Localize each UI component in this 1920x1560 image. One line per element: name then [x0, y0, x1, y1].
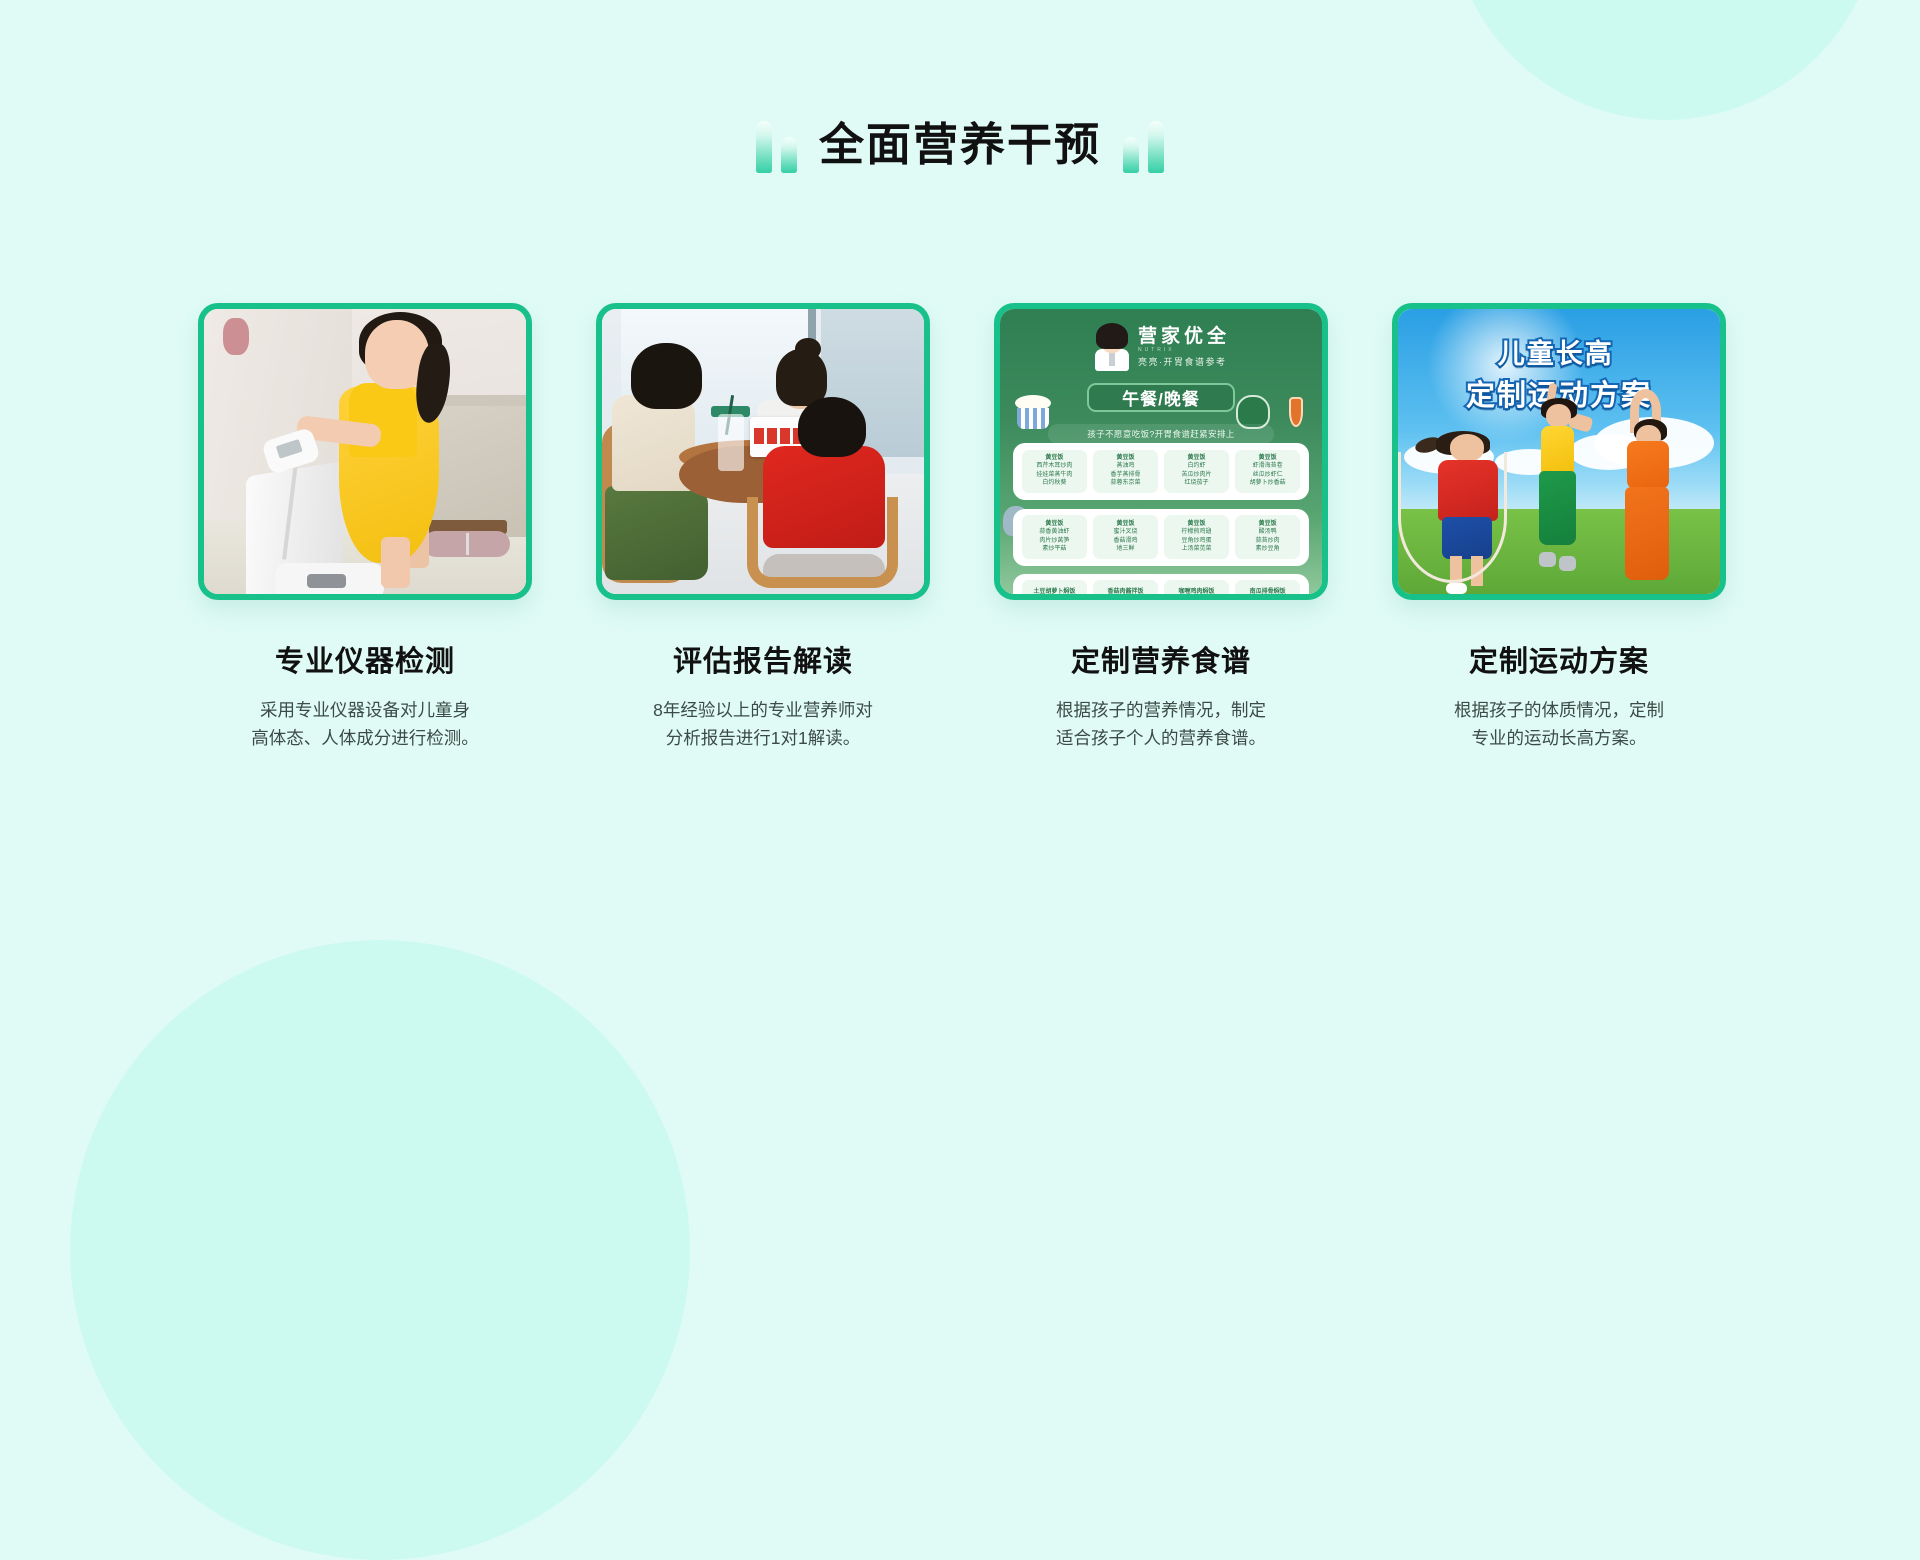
page-title: 全面营养干预 [819, 122, 1101, 167]
card-image-frame[interactable]: 营家优全 NUTRIX 亮亮·开胃食谱参考 午餐/晚餐 孩子不愿意吃饭?开胃食谱… [994, 303, 1328, 600]
menu-cell-staple: 土豆胡萝卜焖饭 [1033, 589, 1075, 597]
recipe-brand-name: 营家优全 [1138, 327, 1230, 347]
menu-cell-dish: 酸汤鸭 [1259, 529, 1277, 537]
menu-cell-staple: 黄豆饭 [1116, 455, 1134, 463]
menu-cell: 黄豆饭柠檬煎鸡翅豆角炒鸡蛋上汤菜苋菜 [1164, 515, 1229, 558]
menu-cell-dish: 白灼虾 [1188, 463, 1206, 471]
menu-cell-staple: 黄豆饭 [1045, 455, 1063, 463]
broccoli-icon [1236, 395, 1270, 429]
menu-cell-dish: 胡萝卜炒香菇 [1250, 480, 1286, 488]
decor-bar-tall-icon [1148, 121, 1164, 173]
title-decoration-left [756, 115, 797, 173]
recipe-brand-row: 营家优全 NUTRIX 亮亮·开胃食谱参考 [1000, 323, 1322, 371]
decor-bar-short-icon [781, 137, 797, 173]
menu-cell-dish: 红烧鱼块 [1042, 597, 1066, 600]
decor-bar-tall-icon [756, 121, 772, 173]
menu-cell-staple: 黄豆饭 [1116, 521, 1134, 529]
popcorn-icon [1013, 395, 1053, 429]
card-title: 定制运动方案 [1392, 638, 1726, 680]
menu-cell-dish: 上汤菜苋菜 [1182, 546, 1212, 554]
card-description: 根据孩子的体质情况，定制 专业的运动长高方案。 [1392, 696, 1726, 753]
menu-cell-staple: 咖喱鸡肉焖饭 [1179, 589, 1215, 597]
menu-cell-dish: 香菇滑鸡 [1113, 538, 1137, 546]
child-jumping [1517, 383, 1601, 571]
photo-children-exercising: 儿童长高 定制运动方案 [1398, 309, 1720, 594]
jump-rope-icon [1398, 452, 1507, 583]
feature-card-report-interpretation[interactable]: 评估报告解读 8年经验以上的专业营养师对 分析报告进行1对1解读。 [596, 303, 930, 753]
menu-row: 黄豆饭西芹木耳炒肉娃娃菜蒸牛肉白灼秋葵黄豆饭蒸油鸡香芋蒸排骨蒜蓉东京菜黄豆饭白灼… [1013, 443, 1309, 500]
section-header: 全面营养干预 [0, 115, 1920, 173]
background-circle-top-right [1450, 0, 1880, 120]
recipe-tagline: 孩子不愿意吃饭?开胃食谱赶紧安排上 [1048, 424, 1273, 444]
menu-cell: 黄豆饭蒸油鸡香芋蒸排骨蒜蓉东京菜 [1093, 450, 1158, 493]
menu-cell-dish: 素炒平菇 [1042, 546, 1066, 554]
menu-cell-dish: 香芋蒸排骨 [1110, 472, 1140, 480]
menu-cell-dish: 丝瓜炒虾仁 [1253, 472, 1283, 480]
menu-cell-dish: 肉片炒莴笋 [1039, 538, 1069, 546]
card-description: 根据孩子的营养情况，制定 适合孩子个人的营养食谱。 [994, 696, 1328, 753]
menu-cell-dish: 虾滑海苔卷 [1253, 463, 1283, 471]
carrot-icon [1289, 397, 1303, 427]
nutritionist-avatar-icon [1092, 323, 1132, 371]
menu-cell: 黄豆饭西芹木耳炒肉娃娃菜蒸牛肉白灼秋葵 [1022, 450, 1087, 493]
menu-cell-staple: 南瓜排骨焖饭 [1250, 589, 1286, 597]
menu-cell-staple: 黄豆饭 [1188, 521, 1206, 529]
menu-row: 土豆胡萝卜焖饭红烧鱼块香菇肉酱拌饭蒜蓉虾仁咖喱鸡肉焖饭蒸油鸡南瓜排骨焖饭金汤柠檬… [1013, 574, 1309, 600]
card-description: 采用专业仪器设备对儿童身 高体态、人体成分进行检测。 [198, 696, 532, 753]
menu-cell-staple: 黄豆饭 [1045, 521, 1063, 529]
card-image-frame[interactable]: 儿童长高 定制运动方案 [1392, 303, 1726, 600]
menu-cell-dish: 苦瓜炒肉片 [1182, 472, 1212, 480]
card-image-frame[interactable] [198, 303, 532, 600]
title-decoration-right [1123, 115, 1164, 173]
background-circle-bottom-left [70, 940, 690, 1560]
menu-cell-dish: 蜜汁叉烧 [1113, 529, 1137, 537]
menu-cell: 黄豆饭酸汤鸭蒜苔炒肉素炒豆角 [1235, 515, 1300, 558]
card-title: 定制营养食谱 [994, 638, 1328, 680]
menu-cell-dish: 地三鲜 [1116, 546, 1134, 554]
meal-type-button[interactable]: 午餐/晚餐 [1087, 383, 1235, 412]
exercise-headline-line1: 儿童长高 [1427, 332, 1685, 371]
menu-cell: 香菇肉酱拌饭蒜蓉虾仁 [1093, 580, 1158, 600]
photo-nutritionist-consultation [602, 309, 924, 594]
menu-cell-dish: 蒜香黄油虾 [1039, 529, 1069, 537]
menu-cell-dish: 西芹木耳炒肉 [1036, 463, 1072, 471]
menu-cell-dish: 蒸油鸡 [1116, 463, 1134, 471]
feature-card-custom-exercise[interactable]: 儿童长高 定制运动方案 [1392, 303, 1726, 753]
recipe-brand-subtitle: 亮亮·开胃食谱参考 [1138, 355, 1230, 368]
photo-recipe-poster: 营家优全 NUTRIX 亮亮·开胃食谱参考 午餐/晚餐 孩子不愿意吃饭?开胃食谱… [1000, 309, 1322, 594]
menu-cell: 土豆胡萝卜焖饭红烧鱼块 [1022, 580, 1087, 600]
recipe-brand-en: NUTRIX [1138, 347, 1230, 353]
menu-cell-dish: 娃娃菜蒸牛肉 [1036, 472, 1072, 480]
decor-bar-short-icon [1123, 137, 1139, 173]
menu-cell-dish: 素炒豆角 [1256, 546, 1280, 554]
menu-cell: 黄豆饭蜜汁叉烧香菇滑鸡地三鲜 [1093, 515, 1158, 558]
menu-cell-dish: 白灼秋葵 [1042, 480, 1066, 488]
menu-cell-dish: 豆角炒鸡蛋 [1182, 538, 1212, 546]
menu-cell-staple: 香菇肉酱拌饭 [1107, 589, 1143, 597]
menu-cell-dish: 蒜蓉东京菜 [1110, 480, 1140, 488]
feature-card-instrument-test[interactable]: 专业仪器检测 采用专业仪器设备对儿童身 高体态、人体成分进行检测。 [198, 303, 532, 753]
menu-cell-staple: 黄豆饭 [1259, 455, 1277, 463]
photo-body-composition-test [204, 309, 526, 594]
menu-cell: 南瓜排骨焖饭金汤柠檬鱼 [1235, 580, 1300, 600]
menu-cell: 黄豆饭虾滑海苔卷丝瓜炒虾仁胡萝卜炒香菇 [1235, 450, 1300, 493]
card-description: 8年经验以上的专业营养师对 分析报告进行1对1解读。 [596, 696, 930, 753]
feature-card-list: 专业仪器检测 采用专业仪器设备对儿童身 高体态、人体成分进行检测。 评估报告解读 [198, 303, 1728, 753]
menu-cell-staple: 黄豆饭 [1259, 521, 1277, 529]
menu-cell-staple: 黄豆饭 [1188, 455, 1206, 463]
menu-cell: 咖喱鸡肉焖饭蒸油鸡 [1164, 580, 1229, 600]
menu-cell-dish: 蒜苔炒肉 [1256, 538, 1280, 546]
menu-cell-dish: 红烧茄子 [1185, 480, 1209, 488]
menu-cell-dish: 金汤柠檬鱼 [1253, 597, 1283, 600]
feature-card-custom-recipe[interactable]: 营家优全 NUTRIX 亮亮·开胃食谱参考 午餐/晚餐 孩子不愿意吃饭?开胃食谱… [994, 303, 1328, 753]
menu-cell-dish: 柠檬煎鸡翅 [1182, 529, 1212, 537]
card-image-frame[interactable] [596, 303, 930, 600]
menu-cell-dish: 蒸油鸡 [1188, 597, 1206, 600]
child-stretching [1598, 389, 1695, 589]
menu-row: 黄豆饭蒜香黄油虾肉片炒莴笋素炒平菇黄豆饭蜜汁叉烧香菇滑鸡地三鲜黄豆饭柠檬煎鸡翅豆… [1013, 509, 1309, 566]
menu-cell-dish: 蒜蓉虾仁 [1113, 597, 1137, 600]
card-title: 评估报告解读 [596, 638, 930, 680]
menu-cell: 黄豆饭蒜香黄油虾肉片炒莴笋素炒平菇 [1022, 515, 1087, 558]
card-title: 专业仪器检测 [198, 638, 532, 680]
menu-cell: 黄豆饭白灼虾苦瓜炒肉片红烧茄子 [1164, 450, 1229, 493]
